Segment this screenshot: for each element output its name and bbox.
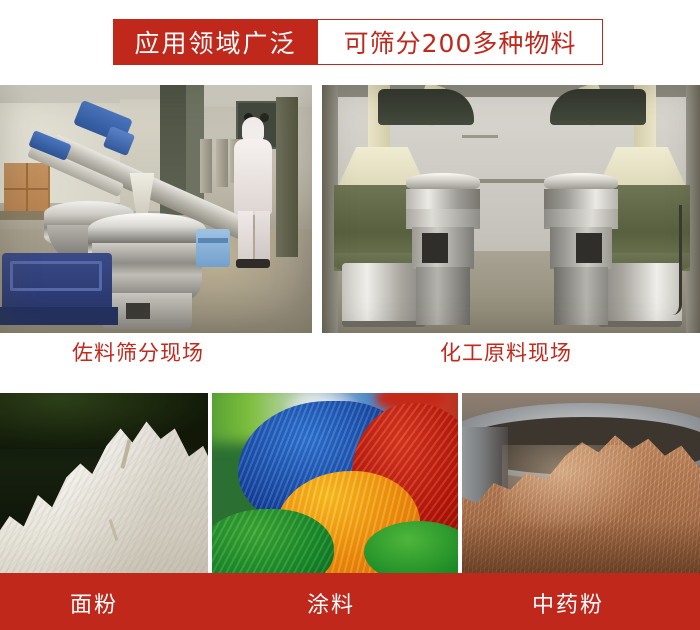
label-herbal-powder: 中药粉 <box>532 587 604 619</box>
photo-vignette <box>0 85 312 333</box>
header-headline: 可筛分200多种物料 <box>318 19 603 65</box>
label-flour: 面粉 <box>70 587 118 619</box>
application-scope-panel: 应用领域广泛 可筛分200多种物料 <box>0 0 700 630</box>
top-photo-captions: 佐料筛分现场 化工原料现场 <box>0 333 700 385</box>
header-badge: 应用领域广泛 <box>113 19 318 65</box>
bottom-photo-row <box>0 393 700 573</box>
photo-vignette <box>322 85 700 333</box>
label-coating: 涂料 <box>307 587 355 619</box>
photo-herbal-powder[interactable] <box>462 393 700 573</box>
header-banner: 应用领域广泛 可筛分200多种物料 <box>113 19 603 65</box>
photo-coating-pigments[interactable] <box>212 393 458 573</box>
caption-spice-sieving-site: 佐料筛分现场 <box>72 337 204 367</box>
bottom-label-bar: 面粉 涂料 中药粉 <box>0 573 700 630</box>
top-photo-row <box>0 85 700 333</box>
photo-spice-sieving-site[interactable] <box>0 85 312 333</box>
photo-chemical-raw-material-site[interactable] <box>322 85 700 333</box>
caption-chemical-raw-material-site: 化工原料现场 <box>440 337 572 367</box>
photo-flour[interactable] <box>0 393 208 573</box>
herbal-powder-shadow <box>462 521 700 573</box>
